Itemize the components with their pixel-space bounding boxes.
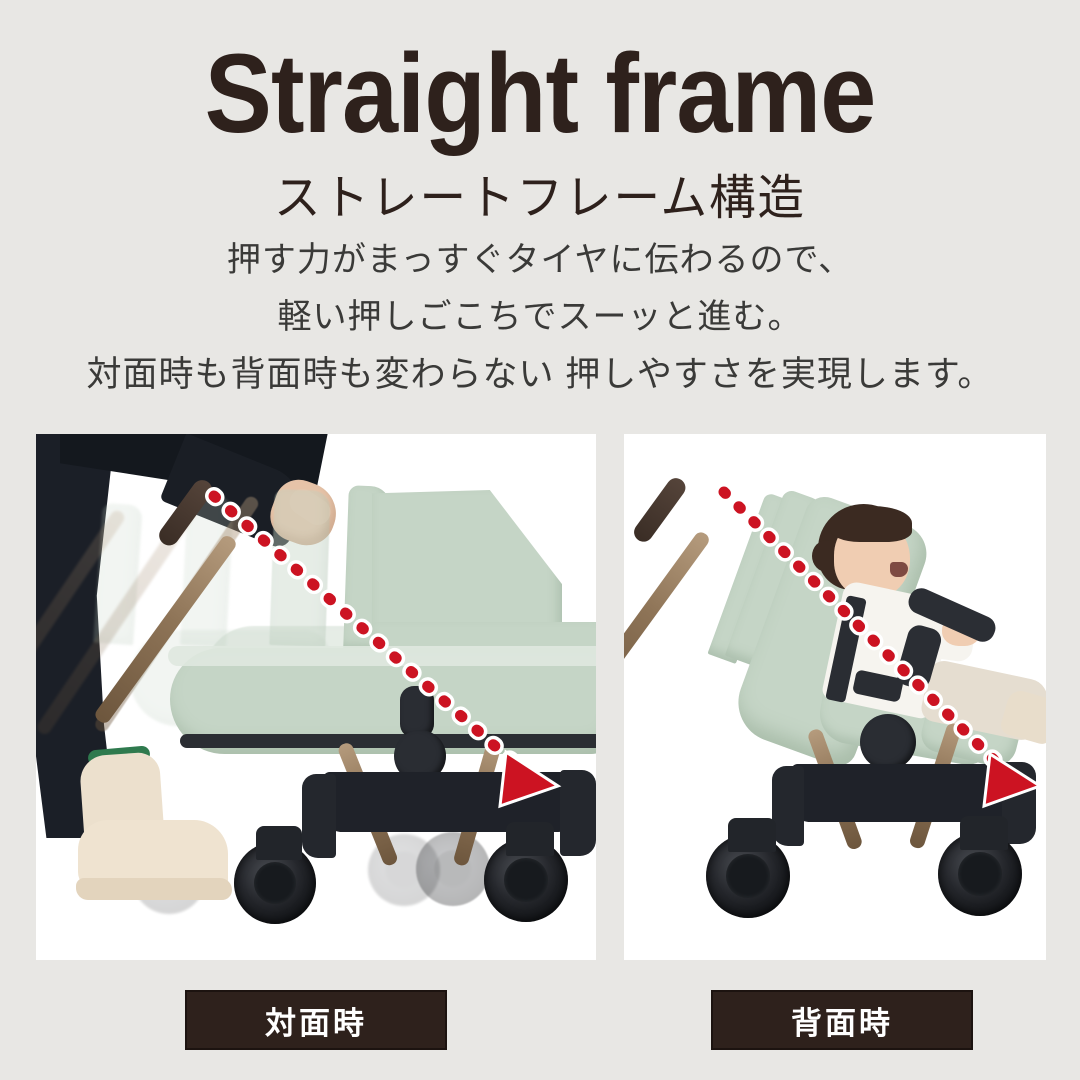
caption-facing-mode: 対面時 [185,990,447,1050]
photo-panel-rear-facing-mode [624,434,1046,960]
body-copy-line-3: 対面時も背面時も変わらない 押しやすさを実現します。 [87,355,994,394]
scene-facing-mode [36,434,596,960]
force-arrow-left [36,434,596,960]
page-title: Straight frame [54,38,1026,150]
highlight-marker: 対面時も背面時も変わらない 押しやすさを実現します。 [87,357,994,392]
page-subtitle: ストレートフレーム構造 [16,158,1064,228]
body-copy-line-2: 軽い押しごこちでスーッと進む。 [0,300,1080,334]
caption-rear-facing-mode: 背面時 [711,990,973,1050]
body-copy-line-1: 押す力がまっすぐタイヤに伝わるので、 [0,243,1080,277]
body-copy-line-3-wrap: 対面時も背面時も変わらない 押しやすさを実現します。 [0,357,1080,392]
scene-rear-facing-mode [624,434,1046,960]
force-arrow-right [624,434,1046,960]
infographic-page: Straight frame ストレートフレーム構造 押す力がまっすぐタイヤに伝… [0,0,1080,1080]
body-copy: 押す力がまっすぐタイヤに伝わるので、 軽い押しごこちでスーッと進む。 対面時も背… [0,243,1080,392]
photo-panel-facing-mode [36,434,596,960]
